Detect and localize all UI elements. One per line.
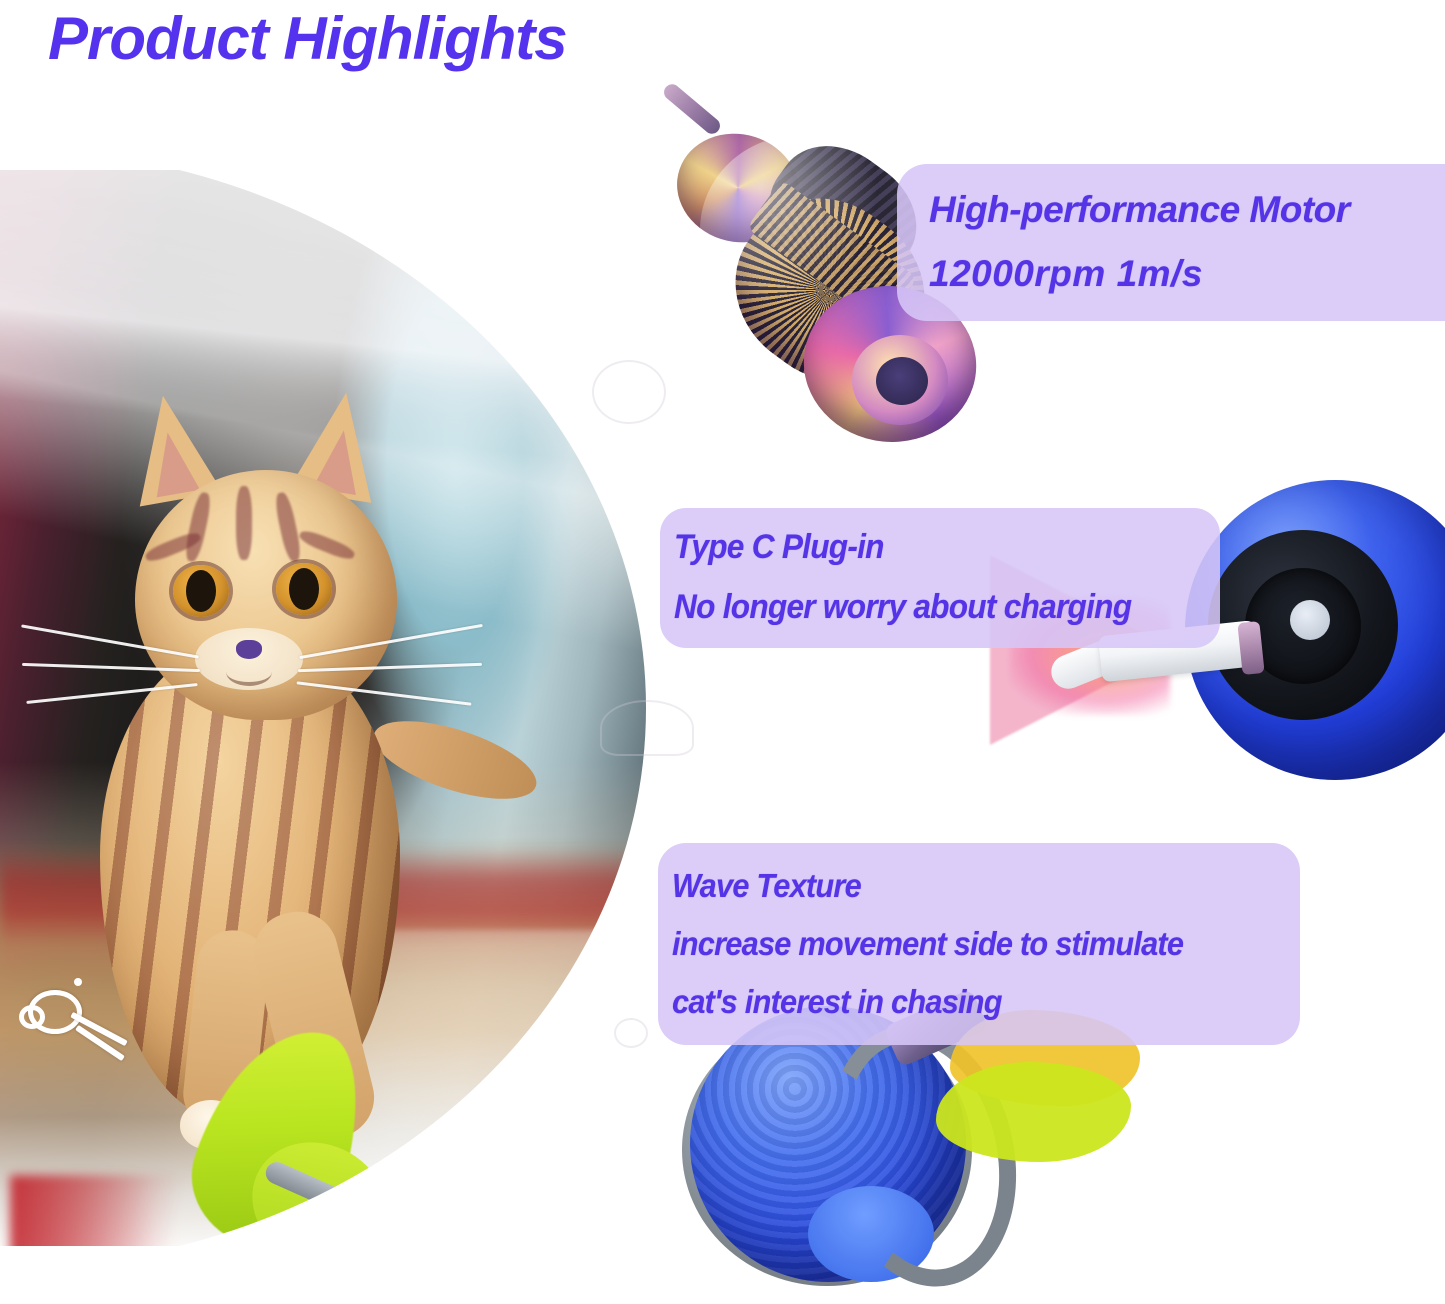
ball-gray-ring — [310, 1162, 560, 1246]
callout-motor-title: High-performance Motor — [929, 178, 1445, 242]
page-title: Product Highlights — [48, 4, 567, 73]
feather-green-plume — [936, 1062, 1131, 1162]
cat-pupil-right — [289, 568, 319, 610]
callout-wave-description-1: increase movement side to stimulate — [672, 915, 1256, 973]
charging-indicator-led — [1290, 600, 1330, 640]
ball-dark-band — [348, 1186, 556, 1246]
watermark-swirl — [600, 700, 694, 756]
callout-wave-texture: Wave Texture increase movement side to s… — [658, 843, 1300, 1045]
motor-specular-gleam — [700, 135, 900, 325]
cat-forehead-stripe-2 — [236, 486, 252, 560]
callout-typec-title: Type C Plug-in — [674, 517, 1182, 577]
cat-mouth — [226, 658, 272, 686]
toy-feather-photo — [205, 1025, 415, 1246]
cat-illustration — [40, 310, 510, 1110]
callout-wave-title: Wave Texture — [672, 857, 1256, 915]
cat-pupil-left — [186, 570, 216, 612]
callout-motor-specs: 12000rpm 1m/s — [929, 242, 1445, 306]
callout-wave-description-2: cat's interest in chasing — [672, 973, 1256, 1031]
cat-photo-panel — [0, 170, 660, 1246]
toy-ball-photo — [300, 1150, 600, 1246]
watermark-swirl — [614, 1018, 648, 1048]
callout-type-c-plug-in: Type C Plug-in No longer worry about cha… — [660, 508, 1220, 648]
motor-shaft — [661, 81, 723, 137]
callout-high-performance-motor: High-performance Motor 12000rpm 1m/s — [897, 164, 1445, 321]
cat-nose — [236, 640, 262, 659]
ball-blue-sphere — [355, 1154, 590, 1246]
motor-hub-core — [876, 357, 928, 405]
callout-typec-description: No longer worry about charging — [674, 577, 1182, 637]
puff-dot — [74, 978, 82, 986]
